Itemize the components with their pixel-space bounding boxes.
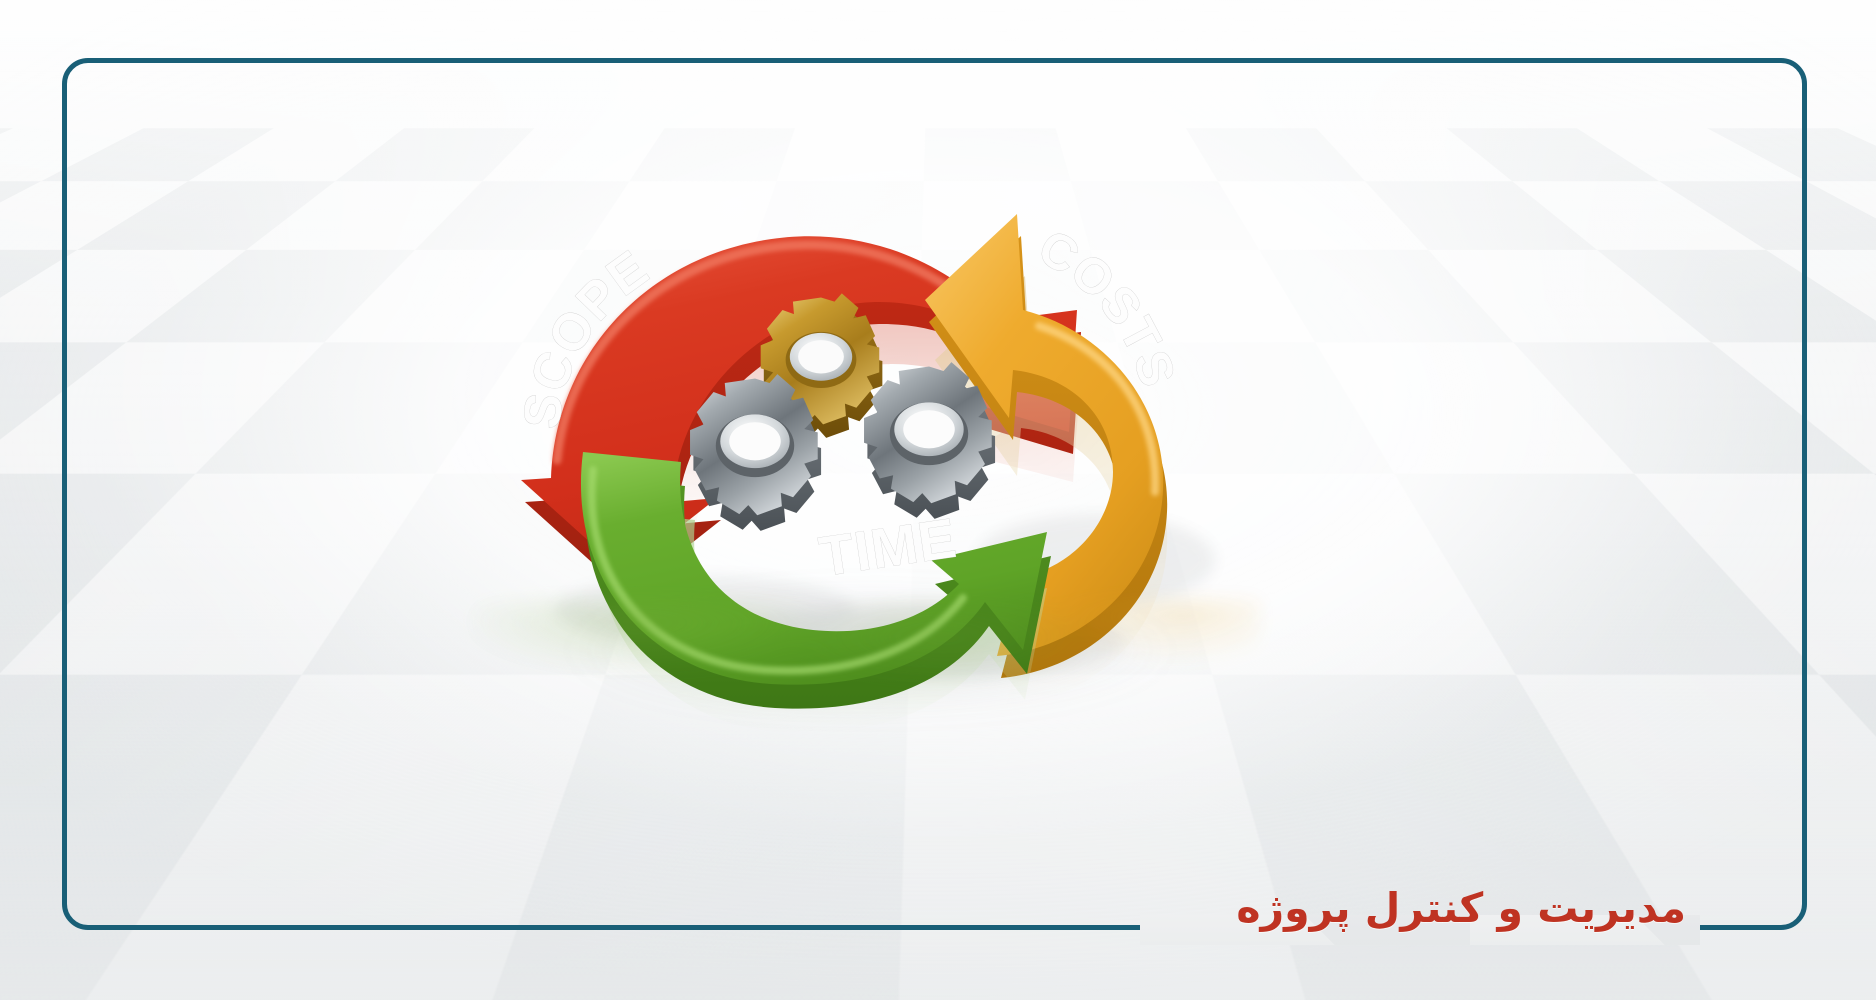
gear-gold-bore-hole bbox=[798, 340, 844, 373]
page-title: مدیریت و کنترل پروژه bbox=[1236, 884, 1686, 932]
project-management-diagram: SCOPE COSTS TIME bbox=[455, 140, 1255, 700]
gear-silver-left-bore-hole bbox=[729, 422, 781, 460]
gear-silver-right-bore-hole bbox=[903, 410, 955, 448]
slide-canvas: SCOPE COSTS TIME bbox=[0, 0, 1876, 1000]
arrow-time-label: TIME bbox=[815, 506, 960, 588]
